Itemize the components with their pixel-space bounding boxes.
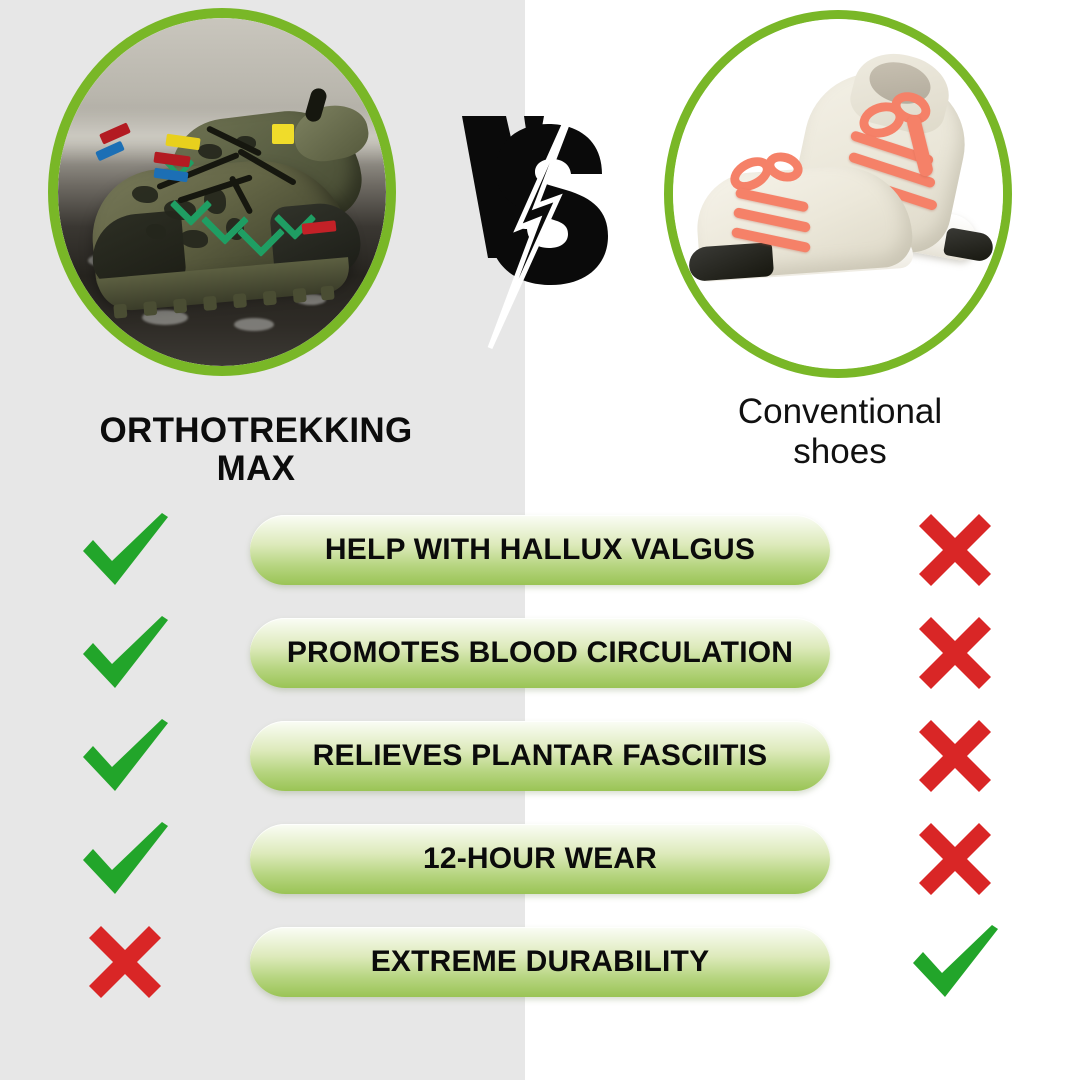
red-cross-icon (916, 820, 994, 898)
product-photo-conventional (673, 19, 1003, 369)
product-name-left: ORTHOTREKKING MAX (16, 412, 496, 488)
product-name-right: Conventional shoes (650, 392, 1030, 471)
feature-label: 12-HOUR WEAR (409, 842, 671, 876)
mark-cell-right (830, 910, 1080, 1013)
feature-label: RELIEVES PLANTAR FASCIITIS (299, 739, 782, 773)
feature-label: PROMOTES BLOOD CIRCULATION (273, 636, 807, 670)
red-cross-icon (86, 923, 164, 1001)
product-name-right-line1: Conventional (650, 392, 1030, 432)
mark-cell-left (0, 807, 250, 910)
comparison-infographic: ORTHOTREKKING MAX Conventional shoes HEL… (0, 0, 1080, 1080)
circle-ring-right (664, 10, 1012, 378)
feature-comparison-list: HELP WITH HALLUX VALGUS PROMOTES BLOOD C… (0, 498, 1080, 1013)
mark-cell-left (0, 601, 250, 704)
feature-row: 12-HOUR WEAR (0, 807, 1080, 910)
green-check-icon (79, 614, 171, 692)
versus-badge (452, 78, 628, 350)
feature-row: PROMOTES BLOOD CIRCULATION (0, 601, 1080, 704)
mark-cell-right (830, 807, 1080, 910)
green-check-icon (79, 511, 171, 589)
feature-label: HELP WITH HALLUX VALGUS (311, 533, 769, 567)
product-name-left-line1: ORTHOTREKKING (16, 412, 496, 450)
feature-label: EXTREME DURABILITY (357, 945, 724, 979)
product-circle-right (664, 10, 1012, 378)
feature-row: RELIEVES PLANTAR FASCIITIS (0, 704, 1080, 807)
feature-pill[interactable]: HELP WITH HALLUX VALGUS (250, 515, 830, 585)
mark-cell-right (830, 704, 1080, 807)
feature-pill[interactable]: RELIEVES PLANTAR FASCIITIS (250, 721, 830, 791)
feature-pill[interactable]: PROMOTES BLOOD CIRCULATION (250, 618, 830, 688)
green-check-icon (79, 820, 171, 898)
red-cross-icon (916, 717, 994, 795)
mark-cell-left (0, 498, 250, 601)
red-cross-icon (916, 614, 994, 692)
sneaker-front-toe (688, 242, 774, 282)
red-cross-icon (916, 511, 994, 589)
product-name-right-line2: shoes (650, 432, 1030, 472)
feature-pill[interactable]: 12-HOUR WEAR (250, 824, 830, 894)
product-photo-orthotrekking (58, 18, 386, 366)
circle-ring-left (48, 8, 396, 376)
feature-row: EXTREME DURABILITY (0, 910, 1080, 1013)
mark-cell-right (830, 498, 1080, 601)
product-circle-left (48, 8, 396, 376)
product-name-left-line2: MAX (16, 450, 496, 488)
feature-row: HELP WITH HALLUX VALGUS (0, 498, 1080, 601)
mark-cell-left (0, 704, 250, 807)
green-check-icon (909, 923, 1001, 1001)
mark-cell-right (830, 601, 1080, 704)
green-check-icon (79, 717, 171, 795)
feature-pill[interactable]: EXTREME DURABILITY (250, 927, 830, 997)
mark-cell-left (0, 910, 250, 1013)
